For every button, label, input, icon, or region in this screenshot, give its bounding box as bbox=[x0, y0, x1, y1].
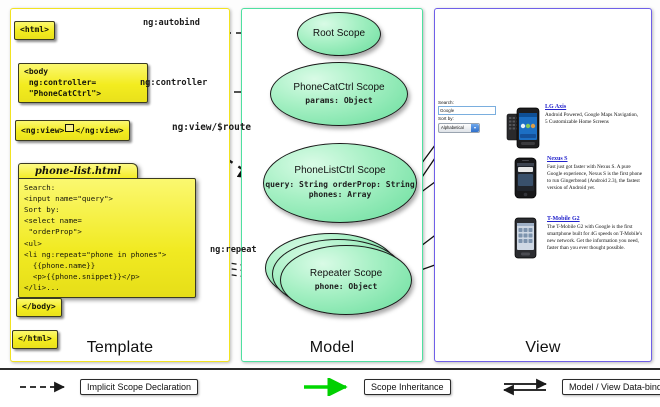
phonecatctrl-scope-props: params: Object bbox=[305, 96, 372, 106]
list-item[interactable]: LG Axis Android Powered, Google Maps Nav… bbox=[506, 104, 641, 152]
ng-view-tag-box: <ng:view></ng:view> bbox=[15, 120, 130, 141]
sort-select[interactable]: Alphabetical▾ bbox=[438, 123, 480, 133]
sort-select-value: Alphabetical bbox=[441, 125, 464, 130]
ng-view-placeholder-icon bbox=[65, 124, 74, 132]
phone-name-link[interactable]: Nexus S bbox=[547, 156, 643, 162]
dashed-arrow-icon bbox=[18, 378, 74, 396]
search-widget: Search: Google Sort by: Alphabetical▾ bbox=[438, 100, 496, 133]
ng-view-open-tag: <ng:view> bbox=[21, 126, 64, 135]
diagram-canvas: Template <html> <body ng:controller= "Ph… bbox=[0, 0, 660, 405]
edge-label-ngrepeat: ng:repeat bbox=[210, 245, 257, 255]
double-arrow-icon bbox=[500, 378, 556, 396]
phone-name-link[interactable]: LG Axis bbox=[545, 104, 641, 110]
phone-list-code: Search: <input name="query"> Sort by: <s… bbox=[18, 178, 196, 298]
ng-view-close-tag: </ng:view> bbox=[75, 126, 123, 135]
root-scope-name: Root Scope bbox=[313, 28, 365, 40]
end-body-tag-box: </body> bbox=[16, 298, 62, 317]
legend-label-scope-inheritance: Scope Inheritance bbox=[364, 379, 451, 395]
edge-label-ngview-route: ng:view/$route bbox=[172, 122, 251, 133]
phone-tmobile-g2-thumbnail-icon bbox=[508, 216, 542, 264]
search-input[interactable]: Google bbox=[438, 106, 496, 115]
list-item[interactable]: Nexus S Fast just got faster with Nexus … bbox=[508, 156, 643, 204]
phone-list-callout: phone-list.html Search: <input name="que… bbox=[18, 163, 196, 298]
search-label: Search: bbox=[438, 100, 496, 105]
phone-snippet: Fast just got faster with Nexus S. A pur… bbox=[547, 164, 643, 192]
list-item[interactable]: T-Mobile G2 The T-Mobile G2 with Google … bbox=[508, 216, 643, 264]
legend-item-scope-inheritance: Scope Inheritance bbox=[302, 378, 451, 396]
edge-label-controller: ng:controller bbox=[140, 78, 207, 88]
model-panel-label: Model bbox=[242, 339, 422, 357]
html-tag-box: <html> bbox=[14, 21, 55, 40]
sort-label: Sort by: bbox=[438, 116, 496, 121]
legend-label-data-binding: Model / View Data-binding bbox=[562, 379, 660, 395]
phonelistctrl-scope: PhoneListCtrl Scope query: String orderP… bbox=[263, 143, 417, 223]
phone-info: T-Mobile G2 The T-Mobile G2 with Google … bbox=[547, 216, 643, 264]
legend: Implicit Scope Declaration Scope Inherit… bbox=[0, 368, 660, 407]
legend-item-data-binding: Model / View Data-binding bbox=[500, 378, 660, 396]
phone-list-filename: phone-list.html bbox=[18, 163, 138, 178]
phonecatctrl-scope-name: PhoneCatCtrl Scope bbox=[293, 82, 384, 94]
chevron-down-icon: ▾ bbox=[471, 124, 479, 132]
edge-label-autobind: ng:autobind bbox=[143, 18, 200, 28]
view-panel-label: View bbox=[435, 339, 651, 357]
phonecatctrl-scope: PhoneCatCtrl Scope params: Object bbox=[270, 62, 408, 126]
legend-item-implicit-scope: Implicit Scope Declaration bbox=[18, 378, 198, 396]
body-tag-box: <body ng:controller= "PhoneCatCtrl"> bbox=[18, 63, 148, 103]
phone-snippet: Android Powered, Google Maps Navigation,… bbox=[545, 112, 641, 126]
repeater-scope-name: Repeater Scope bbox=[310, 268, 382, 280]
phone-snippet: The T-Mobile G2 with Google is the first… bbox=[547, 224, 643, 252]
green-arrow-icon bbox=[302, 378, 358, 396]
end-html-tag-box: </html> bbox=[12, 330, 58, 349]
legend-label-implicit-scope: Implicit Scope Declaration bbox=[80, 379, 198, 395]
phone-info: LG Axis Android Powered, Google Maps Nav… bbox=[545, 104, 641, 152]
phone-name-link[interactable]: T-Mobile G2 bbox=[547, 216, 643, 222]
phone-nexus-s-thumbnail-icon bbox=[508, 156, 542, 204]
root-scope: Root Scope bbox=[297, 12, 381, 56]
phone-info: Nexus S Fast just got faster with Nexus … bbox=[547, 156, 643, 204]
phonelistctrl-scope-props: query: String orderProp: String phones: … bbox=[264, 180, 416, 201]
repeater-scope-props: phone: Object bbox=[315, 282, 378, 292]
phone-lg-axis-thumbnail-icon bbox=[506, 104, 540, 152]
repeater-scope: Repeater Scope phone: Object bbox=[280, 245, 412, 315]
phonelistctrl-scope-name: PhoneListCtrl Scope bbox=[294, 165, 385, 177]
